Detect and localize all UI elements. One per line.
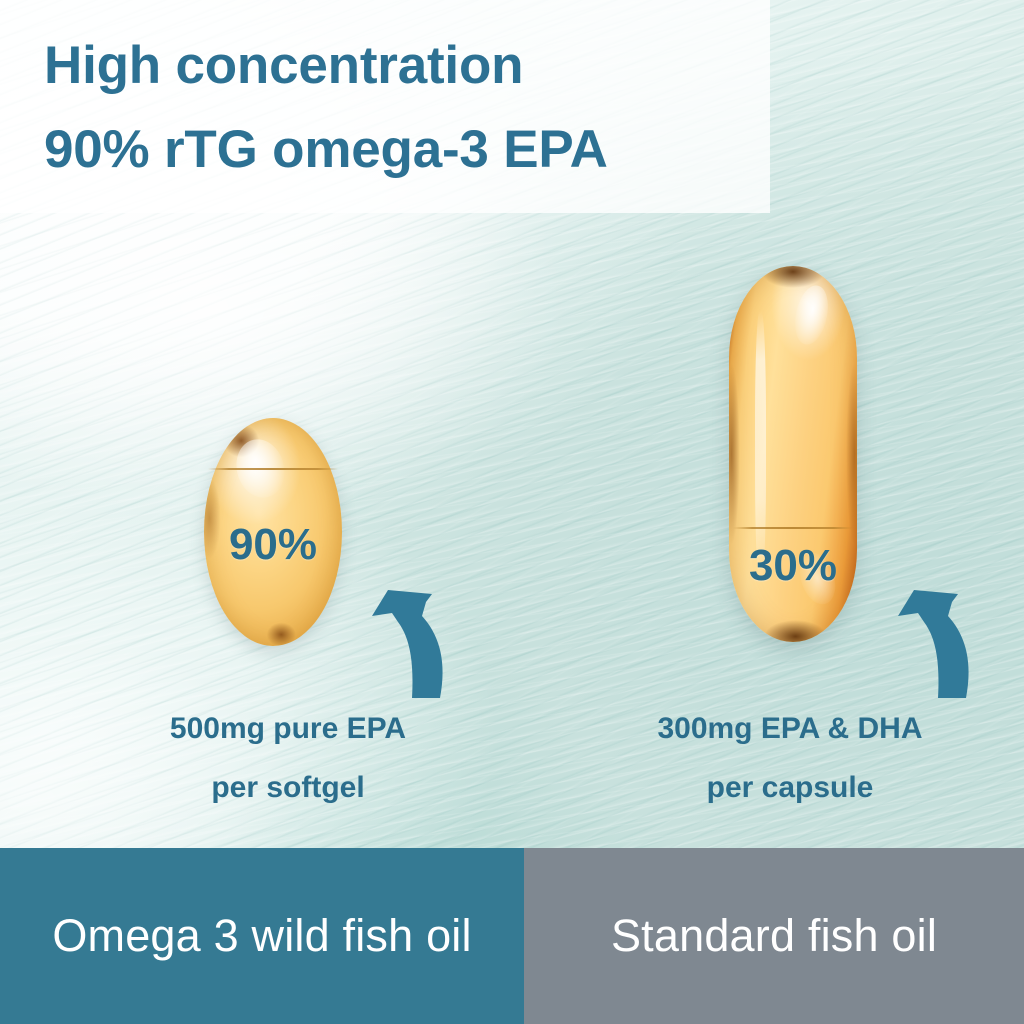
softgel-right: 30% xyxy=(729,266,857,642)
curved-arrow-up-icon-left xyxy=(362,580,452,698)
softgel-left: 90% xyxy=(204,418,342,646)
product-label-left-text: Omega 3 wild fish oil xyxy=(52,910,471,962)
caption-right: 300mg EPA & DHA per capsule xyxy=(590,700,990,817)
softgel-left-seam xyxy=(208,468,338,470)
product-label-right-text: Standard fish oil xyxy=(611,910,937,962)
curved-arrow-up-icon-right xyxy=(888,580,978,698)
page-title: High concentration 90% rTG omega-3 EPA xyxy=(44,24,754,191)
product-label-bar-left: Omega 3 wild fish oil xyxy=(0,848,524,1024)
headline-panel: High concentration 90% rTG omega-3 EPA xyxy=(0,0,770,213)
caption-left: 500mg pure EPA per softgel xyxy=(88,700,488,817)
caption-left-line-2: per softgel xyxy=(88,759,488,818)
headline-line-1: High concentration xyxy=(44,24,754,108)
caption-left-line-1: 500mg pure EPA xyxy=(88,700,488,759)
caption-right-line-1: 300mg EPA & DHA xyxy=(590,700,990,759)
softgel-right-seam xyxy=(733,527,853,529)
caption-right-line-2: per capsule xyxy=(590,759,990,818)
softgel-left-percent: 90% xyxy=(204,523,342,567)
product-label-bar-right: Standard fish oil xyxy=(524,848,1024,1024)
softgel-right-percent: 30% xyxy=(729,544,857,588)
headline-line-2: 90% rTG omega-3 EPA xyxy=(44,108,754,192)
product-infographic: High concentration 90% rTG omega-3 EPA 9… xyxy=(0,0,1024,1024)
